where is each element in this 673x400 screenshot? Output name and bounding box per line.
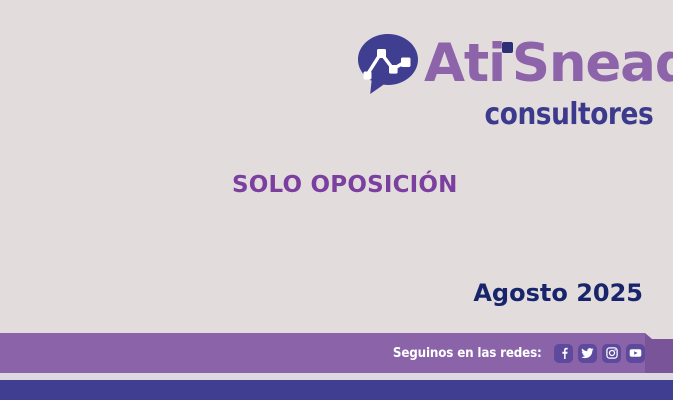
speech-bubble-chart-icon	[355, 31, 421, 97]
facebook-icon[interactable]	[554, 344, 573, 363]
logo-wordmark: AtiSnead	[424, 36, 673, 92]
footer-content: Seguinos en las redes:	[0, 333, 673, 373]
youtube-icon[interactable]	[626, 344, 645, 363]
logo-subtitle: consultores	[391, 99, 655, 131]
presentation-slide: AtiSnead consultores SOLO OPOSICIÓN Agos…	[0, 0, 673, 400]
logo-row: AtiSnead	[355, 28, 655, 100]
social-label: Seguinos en las redes:	[393, 346, 542, 361]
instagram-icon[interactable]	[602, 344, 621, 363]
logo-name-part1: Ati	[424, 33, 505, 94]
brand-logo: AtiSnead consultores	[355, 28, 655, 133]
twitter-icon[interactable]	[578, 344, 597, 363]
slide-headline: SOLO OPOSICIÓN	[232, 172, 458, 198]
logo-name-part2: Snead	[512, 33, 673, 94]
footer-separator	[0, 373, 673, 380]
logo-i-dot	[502, 42, 513, 53]
bottom-accent-bar	[0, 380, 673, 400]
slide-date: Agosto 2025	[473, 279, 643, 307]
